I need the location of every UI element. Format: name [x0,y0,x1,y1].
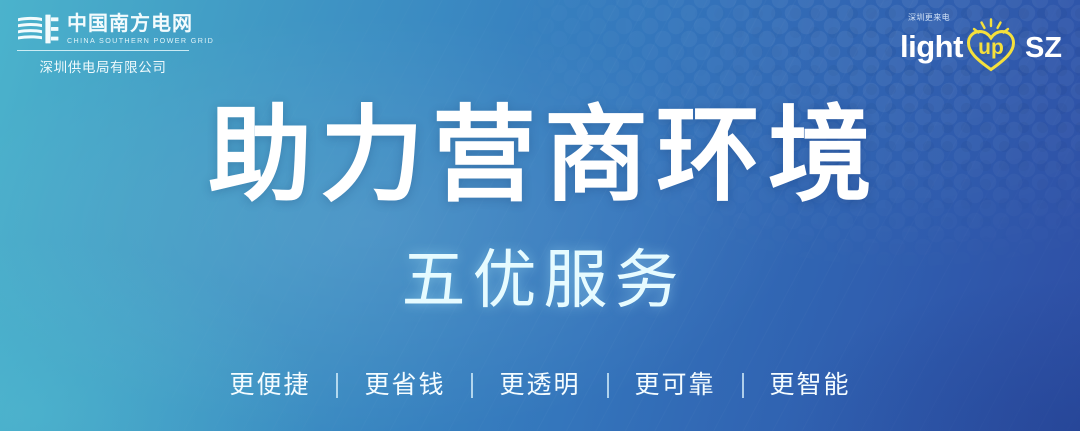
brand-logo-lightup-sz: 深圳更来电 light up SZ [900,8,1062,74]
csg-wordmark: 中国南方电网 CHINA SOUTHERN POWER GRID [67,13,214,46]
brand-logo-row: 中国南方电网 CHINA SOUTHERN POWER GRID [17,13,202,46]
csg-logo-mark-icon [17,14,59,44]
csg-subsidiary-name: 深圳供电局有限公司 [17,56,189,76]
keyword-item: 更智能 [744,370,877,400]
brand-divider-rule [17,50,189,51]
banner-headline: 助力营商环境 [0,104,1080,208]
keyword-item: 更便捷 [203,370,336,400]
keyword-item: 更省钱 [338,370,471,400]
keyword-item: 更可靠 [609,370,742,400]
brand-logo-csg: 中国南方电网 CHINA SOUTHERN POWER GRID 深圳供电局有限… [17,13,202,76]
lightup-wordmark: light up SZ [900,26,1062,72]
banner-subtitle: 五优服务 [0,245,1080,315]
lightup-word-light: light [900,30,963,64]
csg-name-en: CHINA SOUTHERN POWER GRID [67,36,214,46]
keyword-item: 更透明 [473,370,606,400]
lightup-word-sz: SZ [1025,31,1062,65]
lightup-tagline: 深圳更来电 [908,12,950,23]
heart-bulb-icon: up [964,18,1018,74]
csg-name-cn: 中国南方电网 [67,13,214,35]
lightup-word-up: up [978,36,1004,59]
keyword-strip: 更便捷 更省钱 更透明 更可靠 更智能 [0,370,1080,400]
promotional-banner: 中国南方电网 CHINA SOUTHERN POWER GRID 深圳供电局有限… [0,0,1080,431]
